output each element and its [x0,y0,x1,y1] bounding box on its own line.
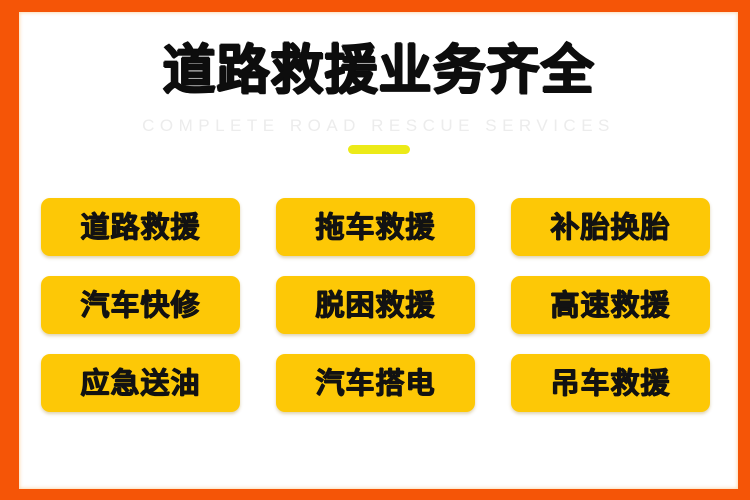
service-button-tow-rescue[interactable]: 拖车救援 [276,198,475,256]
service-button-label: 道路救援 [80,213,200,242]
page-subtitle: COMPLETE ROAD RESCUE SERVICES [19,117,738,134]
service-button-crane-rescue[interactable]: 吊车救援 [511,354,710,412]
service-button-road-rescue[interactable]: 道路救援 [41,198,240,256]
service-button-label: 拖车救援 [315,213,435,242]
service-button-label: 高速救援 [550,291,670,320]
service-button-jump-start[interactable]: 汽车搭电 [276,354,475,412]
service-button-grid: 道路救援 拖车救援 补胎换胎 汽车快修 脱困救援 高速救援 应急送油 汽车搭电 [41,198,738,412]
service-button-tire-repair-replace[interactable]: 补胎换胎 [511,198,710,256]
service-button-label: 补胎换胎 [550,213,670,242]
page-title: 道路救援业务齐全 [19,44,738,97]
service-button-extrication-rescue[interactable]: 脱困救援 [276,276,475,334]
poster-root: 道路救援业务齐全 COMPLETE ROAD RESCUE SERVICES 道… [0,0,750,500]
accent-underline-bar [348,145,410,154]
service-button-label: 汽车搭电 [315,369,435,398]
service-button-highway-rescue[interactable]: 高速救援 [511,276,710,334]
service-button-label: 吊车救援 [550,369,670,398]
service-button-emergency-fuel-delivery[interactable]: 应急送油 [41,354,240,412]
service-button-label: 脱困救援 [315,291,435,320]
service-button-quick-car-repair[interactable]: 汽车快修 [41,276,240,334]
service-button-label: 汽车快修 [80,291,200,320]
service-button-label: 应急送油 [80,369,200,398]
poster-card: 道路救援业务齐全 COMPLETE ROAD RESCUE SERVICES 道… [19,12,738,489]
